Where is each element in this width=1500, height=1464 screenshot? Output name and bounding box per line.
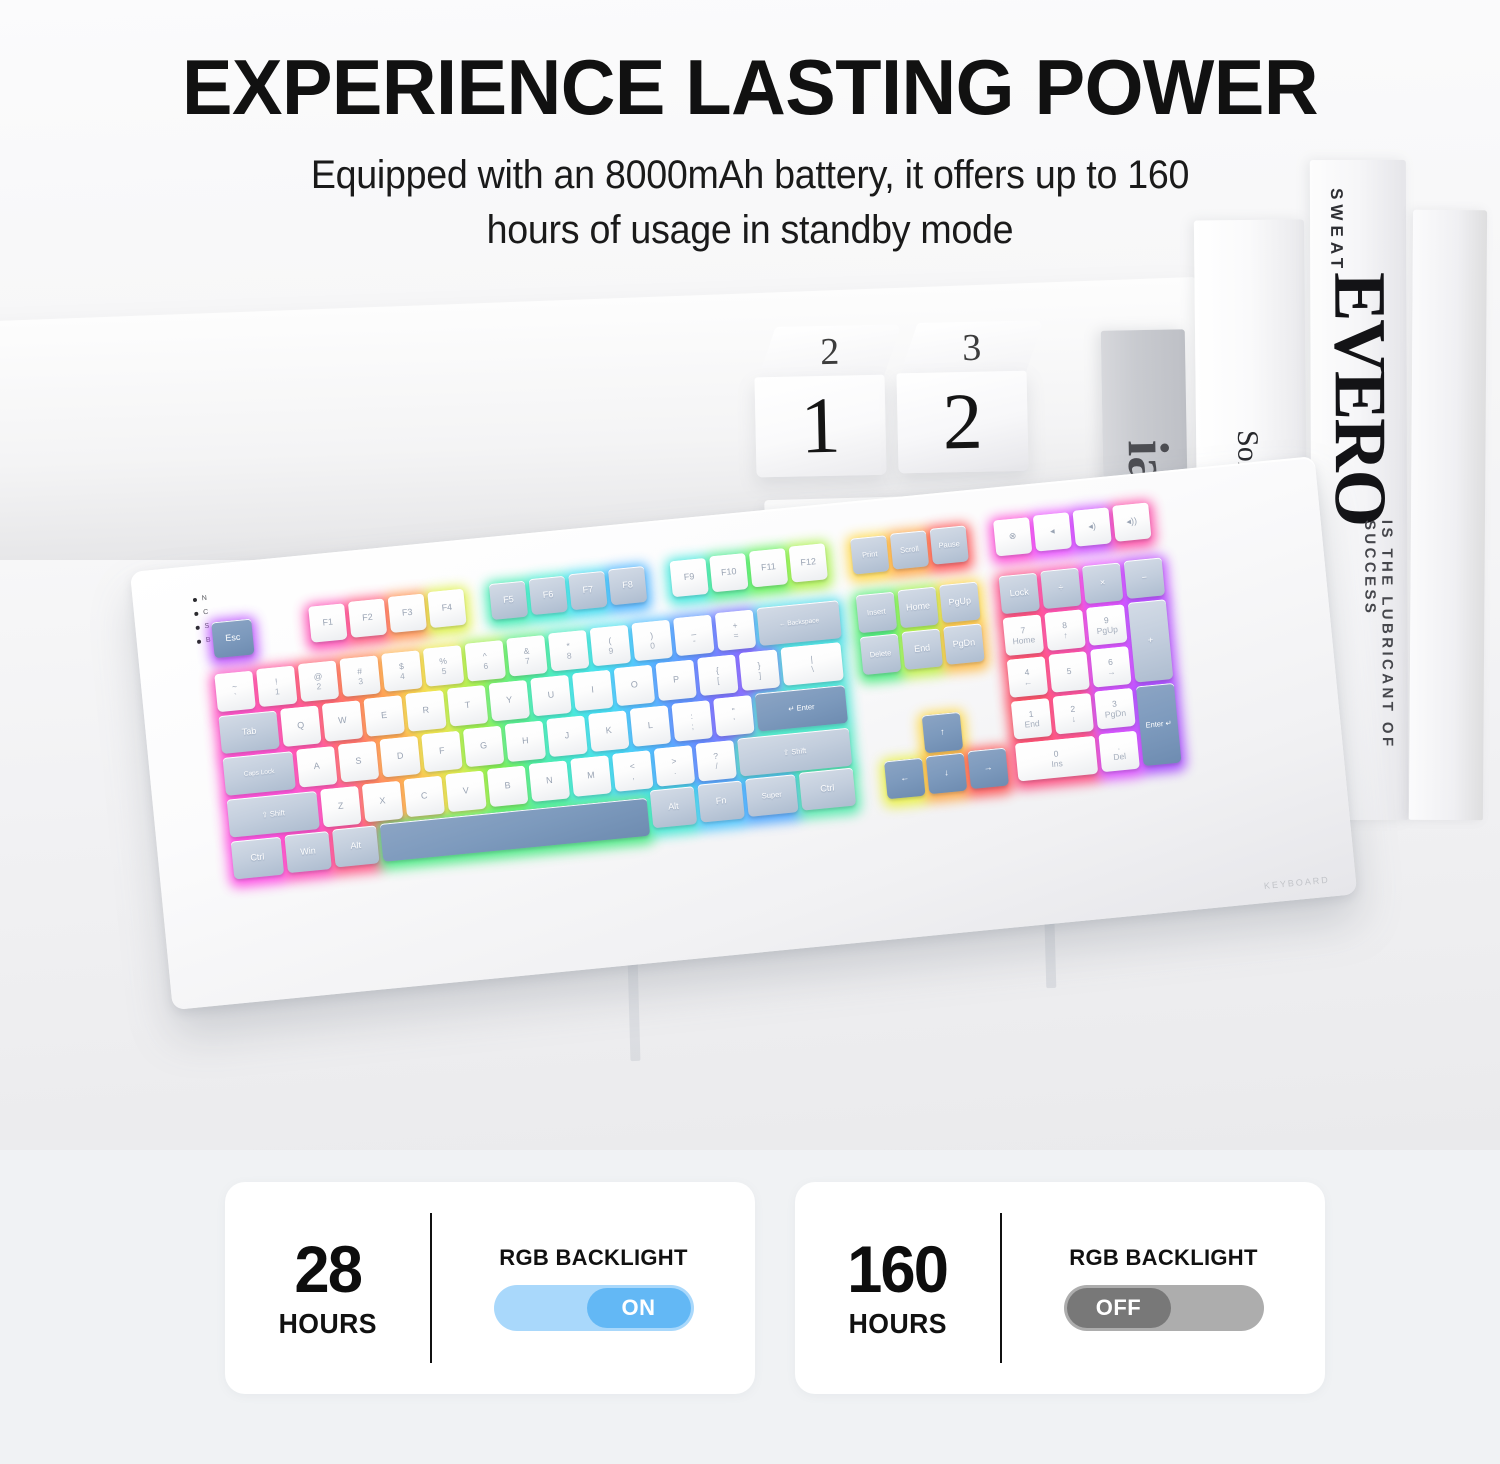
key-legend-secondary: = xyxy=(733,631,739,640)
calendar-cube-left-digit: 1 xyxy=(754,375,886,478)
key-legend-stack: ~` xyxy=(232,682,239,701)
key-legend-primary: # xyxy=(357,667,363,676)
battery-card-backlight-off: 160 HOURS RGB BACKLIGHT OFF xyxy=(795,1182,1325,1394)
key-key-k[interactable]: K xyxy=(588,710,630,752)
key-key-l[interactable]: L xyxy=(630,705,672,747)
key-num-divide[interactable]: ÷ xyxy=(1040,568,1082,610)
key-legend-secondary: ; xyxy=(691,721,694,730)
key-super[interactable]: Super xyxy=(745,774,798,817)
header-block: EXPERIENCE LASTING POWER Equipped with a… xyxy=(0,0,1500,258)
key-legend: F8 xyxy=(622,580,633,590)
key-legend: F4 xyxy=(441,603,452,613)
key-legend: F7 xyxy=(582,585,593,595)
key-legend-primary: 3 xyxy=(1112,699,1118,708)
key-bracket-left[interactable]: {[ xyxy=(697,655,739,697)
key-legend: F1 xyxy=(322,618,333,628)
key-key-i[interactable]: I xyxy=(572,670,614,712)
key-legend-primary: 5 xyxy=(1066,667,1072,676)
key-legend-secondary: ] xyxy=(758,671,761,680)
key-legend: Esc xyxy=(225,633,241,644)
key-tab[interactable]: Tab xyxy=(218,711,279,754)
key-legend: V xyxy=(462,786,469,796)
key-minus[interactable]: _- xyxy=(673,615,715,657)
key-arrow-left[interactable]: ← xyxy=(884,758,926,800)
battery-spec-cards: 28 HOURS RGB BACKLIGHT ON 160 HOURS RGB … xyxy=(0,1150,1500,1464)
key-legend: Y xyxy=(506,696,513,706)
key-num-7[interactable]: 7Home xyxy=(1003,615,1045,657)
key-digit-7[interactable]: &7 xyxy=(506,635,548,677)
key-legend: ⊗ xyxy=(1008,532,1016,542)
key-legend-stack: 9PgUp xyxy=(1095,615,1118,636)
key-legend: Super xyxy=(761,791,782,801)
key-legend-stack: 2↓ xyxy=(1070,704,1077,723)
key-legend: PgDn xyxy=(952,638,975,650)
key-legend: C xyxy=(421,791,428,801)
key-legend-secondary: ← xyxy=(1023,677,1032,687)
key-digit-2[interactable]: @2 xyxy=(298,661,340,703)
key-legend-stack: <, xyxy=(629,761,636,780)
key-f2[interactable]: F2 xyxy=(348,599,387,638)
key-digit-9[interactable]: (9 xyxy=(590,625,632,667)
key-legend-secondary: / xyxy=(715,761,718,770)
hours-column-off: 160 HOURS xyxy=(795,1236,1000,1340)
hours-label-on: HOURS xyxy=(278,1308,376,1340)
key-legend-stack: {[ xyxy=(715,666,720,685)
key-key-y[interactable]: Y xyxy=(489,680,531,722)
key-num-minus[interactable]: − xyxy=(1124,557,1166,599)
hours-value-off: 160 xyxy=(848,1236,948,1302)
key-legend: Enter ↵ xyxy=(1145,719,1172,729)
key-legend: X xyxy=(379,797,386,807)
key-key-f[interactable]: F xyxy=(421,731,463,773)
key-legend-secondary: 9 xyxy=(608,646,614,655)
key-legend-secondary: PgDn xyxy=(1104,708,1126,719)
key-bracket-right[interactable]: }] xyxy=(739,649,781,691)
key-legend: F xyxy=(439,747,445,757)
key-legend-secondary: 7 xyxy=(525,656,531,665)
key-legend: L xyxy=(647,721,653,731)
key-legend: Caps Lock xyxy=(244,769,275,779)
key-legend-stack: %5 xyxy=(439,656,448,675)
key-num-3[interactable]: 3PgDn xyxy=(1094,688,1136,730)
key-num-2[interactable]: 2↓ xyxy=(1053,693,1095,735)
key-legend-secondary: ↑ xyxy=(1063,630,1068,639)
key-legend-stack: 4← xyxy=(1022,667,1032,687)
key-legend-primary: 7 xyxy=(1020,626,1026,635)
calendar-cube-right-digit: 2 xyxy=(896,371,1028,474)
key-alt-left[interactable]: Alt xyxy=(332,825,379,867)
key-f4[interactable]: F4 xyxy=(427,589,466,628)
key-legend-primary: . xyxy=(1117,742,1120,751)
key-legend-stack: )0 xyxy=(649,631,656,650)
key-legend: Fn xyxy=(715,796,726,806)
key-equals[interactable]: += xyxy=(715,610,757,652)
key-win[interactable]: Win xyxy=(284,831,331,873)
key-legend-secondary: Ins xyxy=(1051,759,1063,769)
key-pgup[interactable]: PgUp xyxy=(939,582,981,624)
key-legend-secondary: - xyxy=(692,636,696,645)
key-legend-secondary: 5 xyxy=(441,666,447,675)
key-num-enter[interactable]: Enter ↵ xyxy=(1136,683,1182,766)
key-legend-stack: }] xyxy=(757,661,762,680)
key-key-s[interactable]: S xyxy=(338,741,380,783)
key-esc[interactable]: Esc xyxy=(211,619,254,659)
key-legend: M xyxy=(587,771,595,781)
key-legend: F2 xyxy=(362,613,373,623)
key-f9[interactable]: F9 xyxy=(669,558,708,597)
calendar-cube-right: 3 2 xyxy=(895,321,1036,474)
key-legend-stack: 5 xyxy=(1066,667,1072,677)
key-legend-primary: | xyxy=(810,655,813,664)
key-fn[interactable]: Fn xyxy=(697,781,744,823)
key-f8[interactable]: F8 xyxy=(608,566,647,605)
key-legend: Insert xyxy=(867,608,886,618)
key-key-x[interactable]: X xyxy=(362,781,404,823)
key-quote[interactable]: "' xyxy=(713,695,755,737)
rgb-backlight-label-on: RGB BACKLIGHT xyxy=(499,1245,687,1271)
key-legend-stack: *8 xyxy=(565,641,572,660)
key-num-lock[interactable]: Lock xyxy=(999,573,1041,615)
key-num-4[interactable]: 4← xyxy=(1007,656,1049,698)
key-f6[interactable]: F6 xyxy=(529,576,568,615)
key-key-p[interactable]: P xyxy=(655,660,697,702)
key-digit-8[interactable]: *8 xyxy=(548,630,590,672)
calendar-cube-right-face: 2 xyxy=(896,371,1028,474)
key-ctrl-left[interactable]: Ctrl xyxy=(231,837,284,880)
key-legend: F12 xyxy=(800,557,816,568)
battery-card-backlight-on: 28 HOURS RGB BACKLIGHT ON xyxy=(225,1182,755,1394)
key-home[interactable]: Home xyxy=(897,587,939,629)
keyboard-brand-mark: KEYBOARD xyxy=(1263,875,1330,891)
key-legend: Delete xyxy=(869,649,891,659)
key-key-c[interactable]: C xyxy=(403,776,445,818)
key-legend-stack: .Del xyxy=(1112,741,1127,761)
key-legend: Win xyxy=(300,847,316,858)
key-digit-3[interactable]: #3 xyxy=(339,655,381,697)
key-legend-primary: $ xyxy=(399,661,405,670)
key-legend-primary: < xyxy=(629,761,635,770)
key-legend: H xyxy=(522,736,529,746)
key-legend-primary: ) xyxy=(650,631,654,640)
key-legend-secondary: PgUp xyxy=(1096,625,1118,636)
key-key-e[interactable]: E xyxy=(363,695,405,737)
key-volume-up[interactable]: ◂)) xyxy=(1112,502,1151,541)
key-key-n[interactable]: N xyxy=(529,760,571,802)
key-legend: Ctrl xyxy=(250,853,265,864)
key-num-6[interactable]: 6→ xyxy=(1090,646,1132,688)
key-legend-secondary: End xyxy=(1024,719,1040,729)
key-legend: O xyxy=(630,680,638,690)
key-legend-primary: % xyxy=(439,656,447,666)
key-legend-primary: + xyxy=(732,621,738,630)
key-legend-primary: 8 xyxy=(1062,621,1068,630)
key-volume-down[interactable]: ◂) xyxy=(1072,507,1111,546)
key-num-plus[interactable]: + xyxy=(1128,599,1174,682)
key-legend: ÷ xyxy=(1058,583,1064,593)
hours-label-off: HOURS xyxy=(848,1308,946,1340)
key-legend: → xyxy=(983,763,993,773)
key-legend-secondary: 6 xyxy=(483,661,489,670)
key-legend: × xyxy=(1100,578,1106,588)
key-legend: F3 xyxy=(402,608,413,618)
key-legend-stack: += xyxy=(732,621,739,640)
page-headline: EXPERIENCE LASTING POWER xyxy=(23,48,1478,126)
key-legend: ⇧ Shift xyxy=(783,747,807,757)
book-evero-tagline: IS THE LUBRICANT OF SUCCESS xyxy=(1361,520,1396,820)
key-legend: K xyxy=(605,726,612,736)
key-key-v[interactable]: V xyxy=(445,771,487,813)
key-legend: Home xyxy=(906,602,931,614)
key-key-h[interactable]: H xyxy=(505,721,547,763)
key-legend: ← xyxy=(900,773,910,783)
key-legend-stack: #3 xyxy=(357,667,364,686)
key-mute[interactable]: ◂ xyxy=(1033,512,1072,551)
product-feature-page: MAY 2 1 3 2 ianra xyxy=(0,0,1500,1464)
key-pgdn[interactable]: PgDn xyxy=(943,623,985,665)
key-key-j[interactable]: J xyxy=(546,716,588,758)
key-legend-secondary: \ xyxy=(811,664,814,673)
key-key-m[interactable]: M xyxy=(570,755,612,797)
key-legend-primary: { xyxy=(715,666,719,675)
key-num-5[interactable]: 5 xyxy=(1048,651,1090,693)
hours-value-on: 28 xyxy=(294,1236,361,1302)
key-period[interactable]: >. xyxy=(654,745,696,787)
key-legend: D xyxy=(397,752,404,762)
key-legend: E xyxy=(381,711,388,721)
key-legend-stack: 7Home xyxy=(1011,625,1035,646)
key-legend-primary: 9 xyxy=(1103,615,1109,624)
key-key-t[interactable]: T xyxy=(447,685,489,727)
key-legend-stack: $4 xyxy=(399,661,406,680)
key-legend-secondary: Home xyxy=(1012,635,1035,646)
key-backslash[interactable]: |\ xyxy=(780,642,843,686)
key-num-0[interactable]: 0Ins xyxy=(1015,736,1098,782)
key-legend-primary: 4 xyxy=(1024,667,1030,676)
toggle-column-on: RGB BACKLIGHT ON xyxy=(432,1245,755,1331)
key-num-dot[interactable]: .Del xyxy=(1098,731,1140,773)
key-print[interactable]: Print xyxy=(850,535,889,574)
key-legend-primary: " xyxy=(731,706,735,715)
rgb-backlight-toggle-off[interactable]: OFF xyxy=(1064,1285,1264,1331)
key-legend-secondary: 1 xyxy=(274,687,280,696)
key-legend-primary: ( xyxy=(608,636,612,645)
key-slash[interactable]: ?/ xyxy=(695,740,737,782)
key-legend: Lock xyxy=(1009,588,1029,599)
key-arrow-right[interactable]: → xyxy=(967,748,1009,790)
key-legend-stack: >. xyxy=(671,756,678,775)
key-legend: A xyxy=(313,762,320,772)
key-num-multiply[interactable]: × xyxy=(1082,563,1124,605)
key-semicolon[interactable]: :; xyxy=(671,700,713,742)
key-end[interactable]: End xyxy=(901,628,943,670)
key-legend-primary: } xyxy=(757,661,761,670)
key-legend: Z xyxy=(338,802,344,812)
key-legend-stack: _- xyxy=(691,626,698,645)
key-legend-secondary: 2 xyxy=(316,682,322,691)
key-key-b[interactable]: B xyxy=(487,766,529,808)
key-legend-stack: :; xyxy=(690,712,694,731)
rgb-backlight-toggle-on[interactable]: ON xyxy=(494,1285,694,1331)
key-f11[interactable]: F11 xyxy=(749,548,788,587)
key-legend: − xyxy=(1141,573,1147,583)
key-arrow-up[interactable]: ↑ xyxy=(922,712,964,754)
key-legend-secondary: 4 xyxy=(400,671,406,680)
key-legend: ◂) xyxy=(1088,522,1096,532)
key-legend: J xyxy=(564,731,569,741)
key-legend: + xyxy=(1147,636,1153,646)
key-f7[interactable]: F7 xyxy=(568,571,607,610)
key-legend: ◂ xyxy=(1050,527,1055,537)
subheadline-line-1: Equipped with an 8000mAh battery, it off… xyxy=(45,148,1455,203)
key-legend-stack: 0Ins xyxy=(1050,749,1063,769)
key-legend-secondary: 3 xyxy=(358,676,364,685)
key-insert[interactable]: Insert xyxy=(856,592,898,634)
key-legend-primary: > xyxy=(671,756,677,765)
key-legend: Alt xyxy=(350,841,361,851)
key-legend-secondary: → xyxy=(1107,667,1116,677)
key-legend: R xyxy=(422,706,429,716)
key-legend-stack: (9 xyxy=(607,636,614,655)
calendar-cube-right-top-digit: 3 xyxy=(908,325,1035,372)
key-legend-primary: 2 xyxy=(1070,704,1076,713)
key-legend: P xyxy=(673,675,680,685)
key-legend: I xyxy=(591,686,594,696)
key-key-u[interactable]: U xyxy=(530,675,572,717)
key-legend: ⇧ Shift xyxy=(261,809,285,819)
book-plain xyxy=(1409,210,1487,821)
page-subheadline: Equipped with an 8000mAh battery, it off… xyxy=(45,148,1455,258)
key-ctrl-right[interactable]: Ctrl xyxy=(799,768,856,811)
key-legend-secondary: [ xyxy=(717,676,720,685)
key-f3[interactable]: F3 xyxy=(388,594,427,633)
key-key-o[interactable]: O xyxy=(614,665,656,707)
key-legend: PgUp xyxy=(948,597,971,609)
key-alt-right[interactable]: Alt xyxy=(650,786,697,828)
key-num-9[interactable]: 9PgUp xyxy=(1086,604,1128,646)
key-key-q[interactable]: Q xyxy=(280,705,322,747)
key-key-z[interactable]: Z xyxy=(320,786,362,828)
key-f12[interactable]: F12 xyxy=(789,543,828,582)
key-pause[interactable]: Pause xyxy=(930,525,969,564)
key-legend-stack: ^6 xyxy=(482,651,489,670)
key-legend: End xyxy=(914,644,931,655)
toggle-column-off: RGB BACKLIGHT OFF xyxy=(1002,1245,1325,1331)
key-scroll[interactable]: Scroll xyxy=(890,530,929,569)
key-f10[interactable]: F10 xyxy=(709,553,748,592)
key-digit-0[interactable]: )0 xyxy=(631,620,673,662)
calendar-cube-left-top-digit: 2 xyxy=(766,329,893,376)
key-legend-primary: ? xyxy=(713,751,719,760)
key-caps-lock[interactable]: Caps Lock xyxy=(223,751,296,796)
key-key-a[interactable]: A xyxy=(296,746,338,788)
key-digit-6[interactable]: ^6 xyxy=(465,640,507,682)
key-legend-primary: _ xyxy=(691,626,697,635)
key-legend: F10 xyxy=(721,567,737,578)
key-legend: Tab xyxy=(241,727,256,738)
key-legend-stack: 3PgDn xyxy=(1103,698,1126,719)
key-backtick[interactable]: ~` xyxy=(214,671,256,713)
calendar-cube-left: 2 1 xyxy=(753,325,894,478)
key-digit-1[interactable]: !1 xyxy=(256,666,298,708)
key-num-1[interactable]: 1End xyxy=(1011,698,1053,740)
key-legend-primary: 1 xyxy=(1028,709,1034,718)
key-legend: U xyxy=(547,691,554,701)
rgb-backlight-toggle-on-knob[interactable]: ON xyxy=(587,1288,691,1328)
key-legend: Ctrl xyxy=(820,784,835,795)
key-delete[interactable]: Delete xyxy=(860,634,902,676)
subheadline-line-2: hours of usage in standby mode xyxy=(45,203,1455,258)
key-legend-primary: * xyxy=(566,641,570,650)
key-key-g[interactable]: G xyxy=(463,726,505,768)
rgb-backlight-toggle-off-knob[interactable]: OFF xyxy=(1067,1288,1171,1328)
key-num-8[interactable]: 8↑ xyxy=(1044,609,1086,651)
key-legend-secondary: ' xyxy=(733,716,735,725)
key-key-w[interactable]: W xyxy=(322,700,364,742)
key-legend: Print xyxy=(862,550,878,559)
key-legend: S xyxy=(355,757,362,767)
key-legend: Q xyxy=(297,721,305,731)
key-legend-secondary: . xyxy=(673,766,676,775)
key-legend-stack: 8↑ xyxy=(1062,621,1069,640)
key-legend: Pause xyxy=(938,540,960,550)
key-legend-secondary: 0 xyxy=(650,641,656,650)
key-legend-secondary: 8 xyxy=(566,651,572,660)
key-legend-secondary: , xyxy=(632,771,635,780)
key-legend: N xyxy=(546,776,553,786)
key-legend-stack: "' xyxy=(731,706,736,725)
key-lock-media[interactable]: ⊗ xyxy=(993,517,1032,556)
calendar-cube-left-face: 1 xyxy=(754,375,886,478)
key-legend: B xyxy=(504,781,511,791)
key-arrow-down[interactable]: ↓ xyxy=(926,753,968,795)
key-legend-primary: ~ xyxy=(232,682,238,691)
key-f1[interactable]: F1 xyxy=(308,603,347,642)
key-legend-primary: ! xyxy=(275,677,278,686)
key-legend-secondary: Del xyxy=(1113,751,1127,761)
key-legend-stack: 1End xyxy=(1023,709,1040,729)
key-digit-4[interactable]: $4 xyxy=(381,650,423,692)
key-legend: F11 xyxy=(761,562,777,573)
key-legend: Scroll xyxy=(900,545,919,555)
key-legend: W xyxy=(338,716,347,726)
key-legend-primary: ^ xyxy=(482,651,487,660)
key-legend-stack: 6→ xyxy=(1106,657,1116,677)
key-legend-secondary: ` xyxy=(234,692,238,701)
key-key-d[interactable]: D xyxy=(379,736,421,778)
key-legend: F9 xyxy=(683,572,694,582)
key-key-r[interactable]: R xyxy=(405,690,447,732)
key-legend: T xyxy=(464,701,470,711)
key-legend-primary: & xyxy=(523,646,530,655)
key-legend-stack: !1 xyxy=(274,677,281,696)
key-legend-primary: 6 xyxy=(1108,657,1114,666)
hours-column-on: 28 HOURS xyxy=(225,1236,430,1340)
key-backspace[interactable]: ← Backspace xyxy=(756,600,841,646)
key-comma[interactable]: <, xyxy=(612,750,654,792)
key-legend-stack: |\ xyxy=(810,655,814,674)
key-legend-stack: @2 xyxy=(313,671,323,691)
key-legend: Alt xyxy=(668,802,679,812)
key-legend-primary: 0 xyxy=(1053,749,1059,758)
key-legend: F6 xyxy=(543,590,554,600)
rgb-backlight-label-off: RGB BACKLIGHT xyxy=(1069,1245,1257,1271)
key-legend-stack: &7 xyxy=(523,646,530,665)
key-legend: ↑ xyxy=(940,728,945,738)
key-legend-secondary: ↓ xyxy=(1071,714,1076,723)
key-digit-5[interactable]: %5 xyxy=(423,645,465,687)
key-legend-primary: @ xyxy=(313,671,322,681)
key-f5[interactable]: F5 xyxy=(489,581,528,620)
